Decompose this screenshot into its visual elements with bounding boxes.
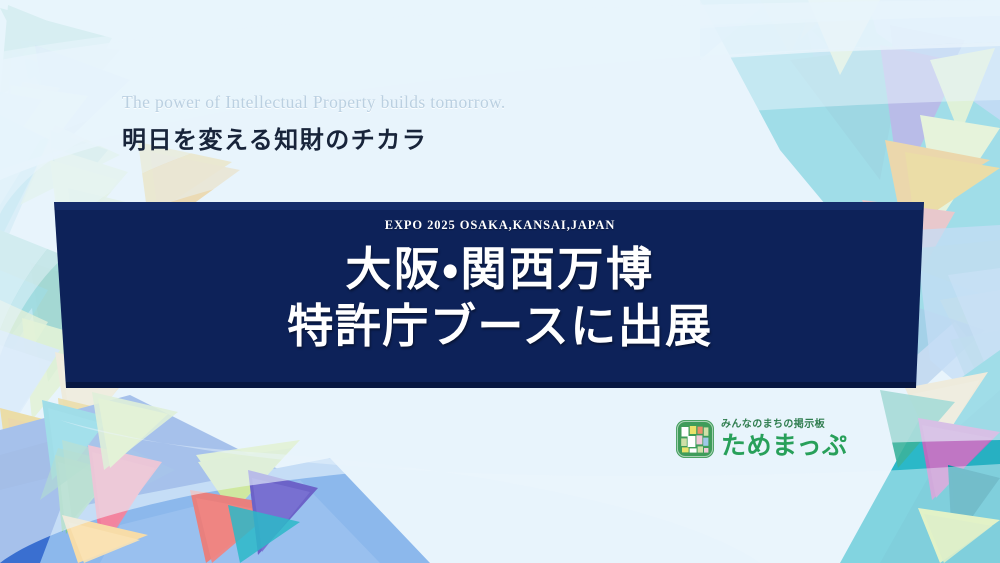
tagline-block: The power of Intellectual Property build…	[122, 92, 506, 155]
slide-canvas: The power of Intellectual Property build…	[0, 0, 1000, 563]
tagline-english: The power of Intellectual Property build…	[122, 92, 506, 113]
decorative-background	[0, 0, 1000, 563]
tagline-japanese: 明日を変える知財のチカラ	[122, 120, 506, 155]
logo-wordmark: ためまっぷ	[721, 433, 848, 458]
logo-text: みんなのまちの掲示板 ためまっぷ	[721, 420, 848, 458]
logo-subtitle: みんなのまちの掲示板	[721, 420, 848, 430]
bulletin-board-icon	[676, 420, 714, 458]
tamemap-logo[interactable]: みんなのまちの掲示板 ためまっぷ	[676, 420, 848, 458]
